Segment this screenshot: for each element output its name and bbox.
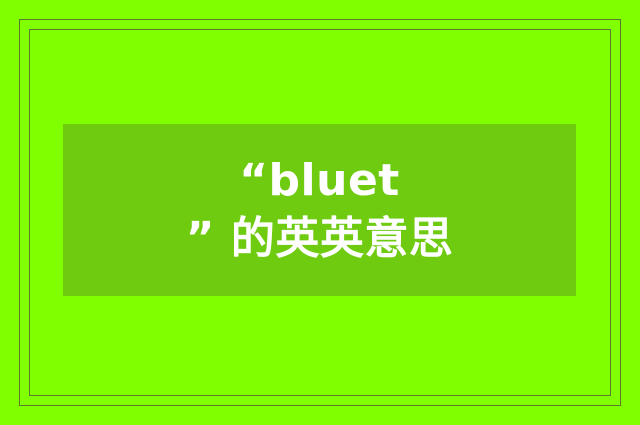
page-canvas: “bluet ” 的英英意思 (0, 0, 640, 425)
title-banner: “bluet ” 的英英意思 (63, 124, 576, 296)
page-title: “bluet ” 的英英意思 (186, 152, 454, 268)
